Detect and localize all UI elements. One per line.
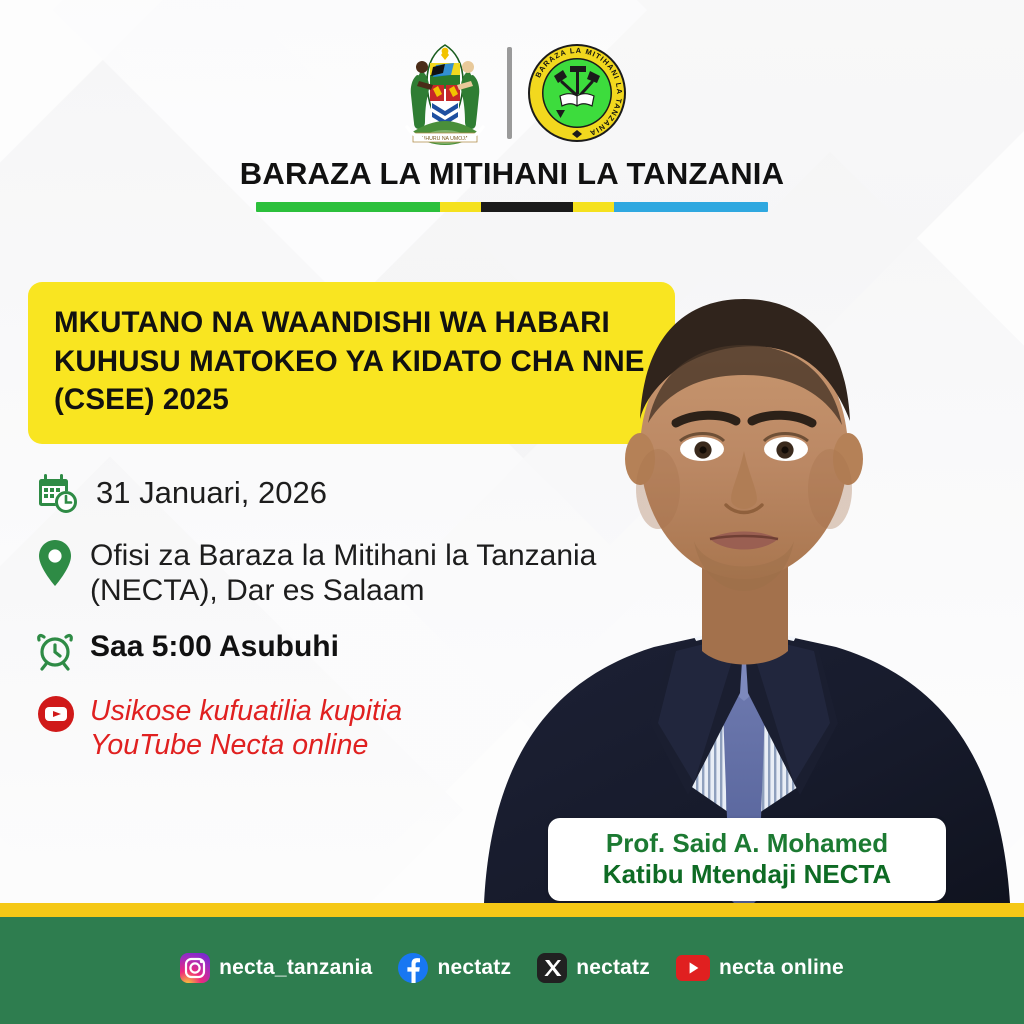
social-links: necta_tanzania nectatz <box>0 953 1024 983</box>
x-twitter-icon[interactable] <box>537 953 567 983</box>
social-facebook[interactable]: nectatz <box>398 953 511 983</box>
flag-color-bar <box>256 202 768 212</box>
instagram-icon[interactable] <box>180 953 210 983</box>
footer: necta_tanzania nectatz <box>0 917 1024 1024</box>
social-x[interactable]: nectatz <box>537 953 650 983</box>
youtube-handle: necta online <box>719 956 844 980</box>
social-instagram[interactable]: necta_tanzania <box>180 953 372 983</box>
speaker-name-card: Prof. Said A. Mohamed Katibu Mtendaji NE… <box>548 818 946 901</box>
necta-seal-icon: BARAZA LA MITIHANI LA TANZANIA <box>526 42 628 144</box>
alarm-clock-icon <box>36 628 86 672</box>
location-pin-icon <box>36 538 86 590</box>
logo-row: UHURU NA UMOJA BARAZA LA <box>0 34 1024 152</box>
facebook-handle: nectatz <box>437 956 511 980</box>
youtube-icon[interactable] <box>676 955 710 981</box>
poster-canvas: UHURU NA UMOJA BARAZA LA <box>0 0 1024 1024</box>
social-youtube[interactable]: necta online <box>676 955 844 981</box>
header: UHURU NA UMOJA BARAZA LA <box>0 34 1024 212</box>
tanzania-coat-of-arms-icon: UHURU NA UMOJA <box>397 37 493 149</box>
instagram-handle: necta_tanzania <box>219 956 372 980</box>
page-title: BARAZA LA MITIHANI LA TANZANIA <box>0 156 1024 192</box>
svg-text:UHURU NA UMOJA: UHURU NA UMOJA <box>421 136 468 142</box>
logo-divider <box>507 47 512 139</box>
speaker-portrait <box>444 223 1024 903</box>
footer-yellow-stripe <box>0 903 1024 917</box>
youtube-circle-icon[interactable] <box>36 694 86 734</box>
calendar-clock-icon <box>36 472 86 516</box>
facebook-icon[interactable] <box>398 953 428 983</box>
x-handle: nectatz <box>576 956 650 980</box>
speaker-title: Katibu Mtendaji NECTA <box>560 859 934 890</box>
speaker-name: Prof. Said A. Mohamed <box>560 828 934 859</box>
